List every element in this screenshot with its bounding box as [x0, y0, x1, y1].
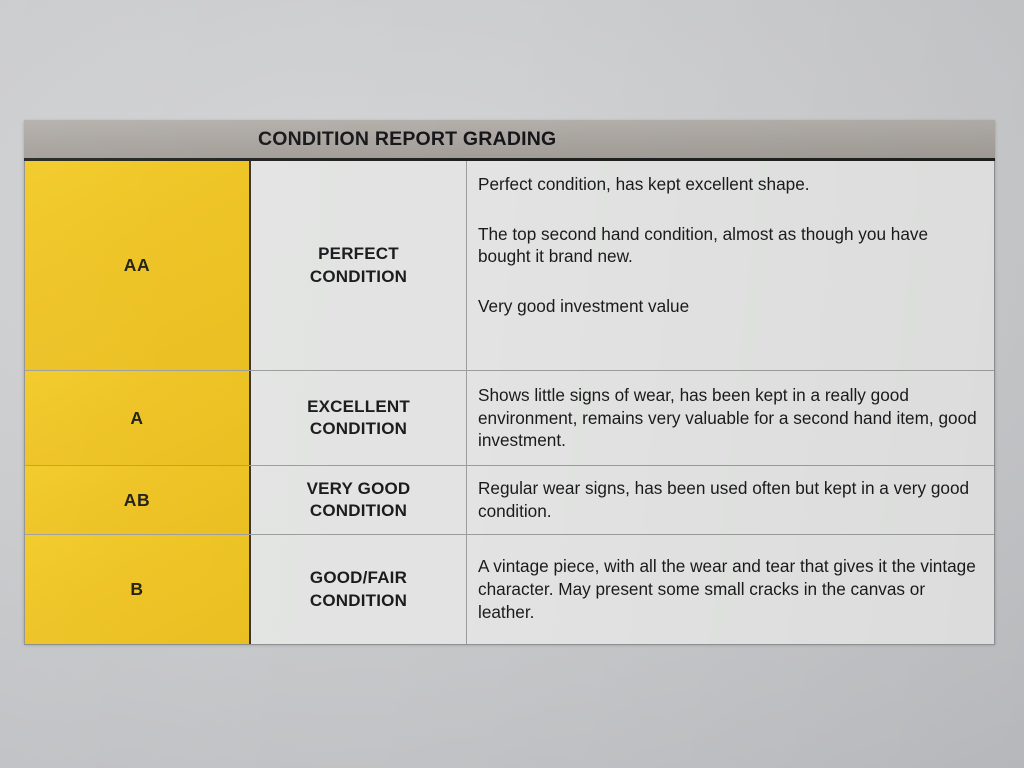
table-row: AB VERY GOOD CONDITION Regular wear sign… — [25, 466, 994, 535]
condition-name-label: PERFECT CONDITION — [310, 243, 407, 287]
condition-description-cell: Shows little signs of wear, has been kep… — [467, 371, 994, 465]
condition-description-cell: Perfect condition, has kept excellent sh… — [467, 161, 994, 370]
description-paragraph: Shows little signs of wear, has been kep… — [478, 384, 980, 453]
condition-name-line-1: EXCELLENT — [307, 397, 410, 416]
table-body: AA PERFECT CONDITION Perfect condition, … — [24, 161, 995, 645]
grade-code-cell: AB — [25, 466, 251, 534]
grade-code-label: AB — [124, 490, 150, 511]
condition-name-cell: GOOD/FAIR CONDITION — [251, 535, 467, 644]
condition-name-line-2: CONDITION — [310, 267, 407, 286]
condition-report-grading-table: CONDITION REPORT GRADING AA PERFECT COND… — [24, 120, 995, 644]
condition-name-line-2: CONDITION — [310, 591, 407, 610]
grade-code-cell: B — [25, 535, 251, 644]
grade-code-label: A — [130, 408, 143, 429]
table-row: B GOOD/FAIR CONDITION A vintage piece, w… — [25, 535, 994, 644]
description-paragraph: The top second hand condition, almost as… — [478, 223, 980, 269]
condition-name-cell: PERFECT CONDITION — [251, 161, 467, 370]
grade-code-cell: AA — [25, 161, 251, 370]
condition-name-label: VERY GOOD CONDITION — [307, 478, 411, 522]
table-title: CONDITION REPORT GRADING — [258, 128, 556, 151]
condition-description-cell: A vintage piece, with all the wear and t… — [467, 535, 994, 644]
condition-name-label: GOOD/FAIR CONDITION — [310, 567, 407, 611]
table-header-bar: CONDITION REPORT GRADING — [24, 120, 995, 161]
condition-name-label: EXCELLENT CONDITION — [307, 396, 410, 440]
grade-code-label: AA — [124, 255, 150, 276]
condition-name-line-1: PERFECT — [318, 244, 399, 263]
description-paragraph: Very good investment value — [478, 295, 980, 318]
condition-name-line-1: VERY GOOD — [307, 479, 411, 498]
description-paragraph: Perfect condition, has kept excellent sh… — [478, 173, 980, 196]
condition-name-line-1: GOOD/FAIR — [310, 568, 407, 587]
grade-code-cell: A — [25, 371, 251, 465]
condition-name-line-2: CONDITION — [310, 419, 407, 438]
description-paragraph: A vintage piece, with all the wear and t… — [478, 555, 980, 624]
condition-name-line-2: CONDITION — [310, 501, 407, 520]
condition-description-cell: Regular wear signs, has been used often … — [467, 466, 994, 534]
description-paragraph: Regular wear signs, has been used often … — [478, 477, 980, 523]
condition-name-cell: EXCELLENT CONDITION — [251, 371, 467, 465]
condition-name-cell: VERY GOOD CONDITION — [251, 466, 467, 534]
grade-code-label: B — [130, 579, 143, 600]
table-row: AA PERFECT CONDITION Perfect condition, … — [25, 161, 994, 371]
table-row: A EXCELLENT CONDITION Shows little signs… — [25, 371, 994, 466]
